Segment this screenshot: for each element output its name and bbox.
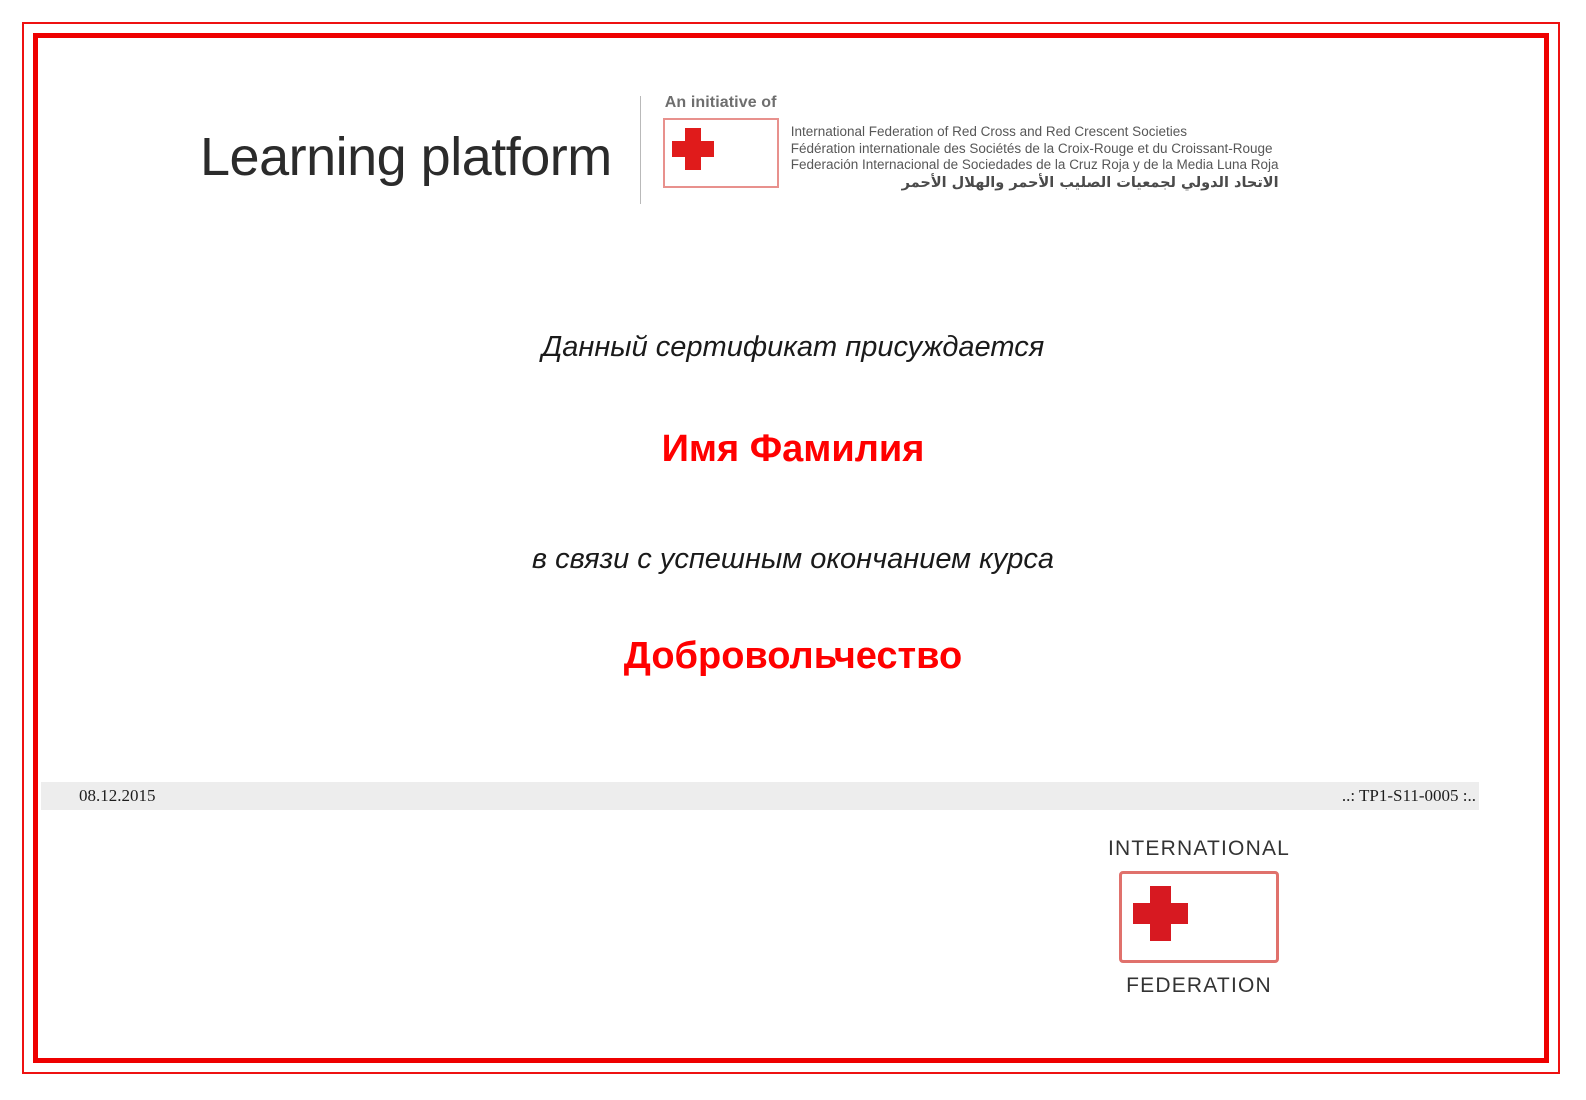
certificate-page: Learning platform An initiative of Inter… bbox=[0, 0, 1586, 1100]
footer-band bbox=[41, 782, 1479, 810]
issue-date: 08.12.2015 bbox=[79, 786, 156, 806]
logo-word-international: INTERNATIONAL bbox=[1104, 838, 1294, 859]
red-cross-red-crescent-emblem-icon bbox=[663, 118, 779, 188]
certificate-serial: ..: TP1-S11-0005 :.. bbox=[1342, 786, 1476, 806]
red-cross-red-crescent-emblem-icon-large bbox=[1119, 871, 1279, 963]
certificate-header: Learning platform An initiative of Inter… bbox=[200, 92, 1279, 222]
awarded-line: Данный сертификат присуждается bbox=[0, 330, 1586, 365]
initiative-label: An initiative of bbox=[665, 94, 1279, 112]
ifrc-federation-logo: INTERNATIONAL FEDERATION bbox=[1104, 838, 1294, 996]
emblem-row: International Federation of Red Cross an… bbox=[663, 118, 1279, 193]
certificate-body: Данный сертификат присуждается Имя Фамил… bbox=[0, 330, 1586, 680]
logo-word-federation: FEDERATION bbox=[1104, 975, 1294, 996]
org-name-en: International Federation of Red Cross an… bbox=[791, 124, 1279, 141]
ifrc-lockup: An initiative of International Federatio… bbox=[663, 92, 1279, 193]
org-name-es: Federación Internacional de Sociedades d… bbox=[791, 157, 1279, 174]
org-name-fr: Fédération internationale des Sociétés d… bbox=[791, 141, 1279, 158]
org-name-ar: الاتحاد الدولي لجمعيات الصليب الأحمر وال… bbox=[791, 174, 1279, 193]
course-name: Добровольчество bbox=[0, 634, 1586, 680]
ifrc-organization-names: International Federation of Red Cross an… bbox=[791, 118, 1279, 193]
course-intro-line: в связи с успешным окончанием курса bbox=[0, 542, 1586, 577]
header-divider bbox=[640, 96, 641, 204]
learning-platform-wordmark: Learning platform bbox=[200, 92, 612, 184]
recipient-name: Имя Фамилия bbox=[0, 427, 1586, 473]
